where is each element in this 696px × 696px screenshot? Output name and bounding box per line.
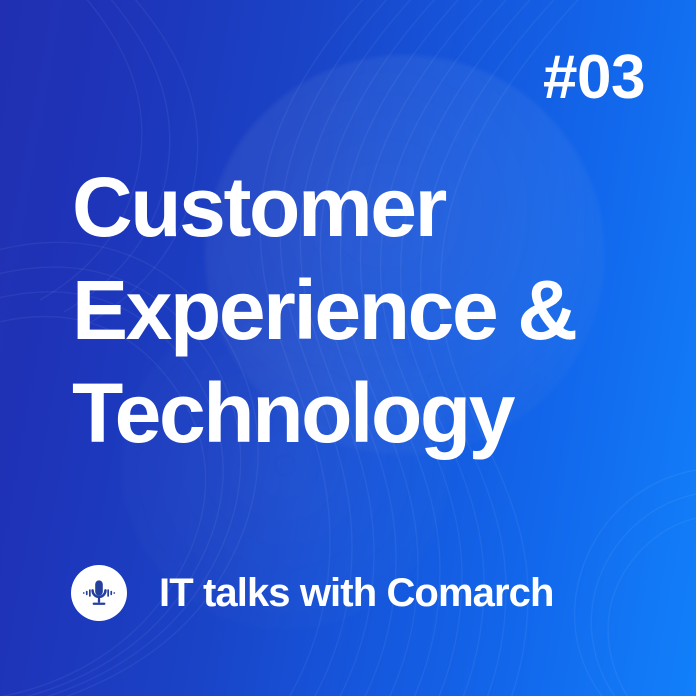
title-line-2: Experience & [72,259,672,362]
episode-number: #03 [543,47,645,109]
contour-ring-group-corner [575,470,696,696]
microphone-badge [71,565,127,621]
show-name: IT talks with Comarch [159,573,554,613]
title-line-1: Customer [72,156,672,259]
show-branding: IT talks with Comarch [71,565,554,621]
microphone-icon [80,574,118,612]
title-line-3: Technology [72,362,672,465]
podcast-cover-art: #03 Customer Experience & Technology [0,0,696,696]
cover-title: Customer Experience & Technology [72,156,672,465]
